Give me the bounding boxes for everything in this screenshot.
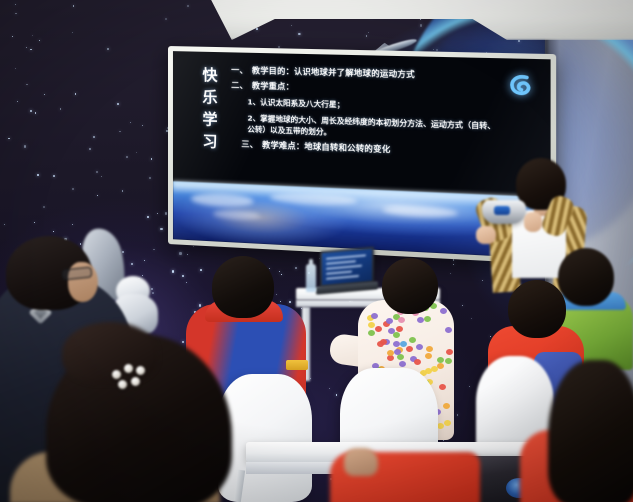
jacket-print-dot <box>439 384 446 390</box>
slide-line-3-num: 三、 <box>241 140 258 149</box>
classroom-photo-scene: 快 乐 学 习 一、 教学目的：认识地球并了解地球的运动方式 二、 教学重点： … <box>0 0 633 502</box>
jacket-print-dot <box>394 349 401 355</box>
jacket-print-dot <box>445 358 452 364</box>
jacket-print-dot <box>437 357 444 363</box>
jacket-print-dot <box>440 308 447 314</box>
pearl-hairpin-5 <box>131 377 140 386</box>
jacket-print-dot <box>400 341 407 347</box>
boy-back-right-head <box>558 248 614 306</box>
jacket-print-dot <box>375 326 382 332</box>
jacket-print-dot <box>398 317 405 323</box>
slide-line-1: 一、 教学目的：认识地球并了解地球的运动方式 <box>231 67 499 82</box>
girl-red-head <box>508 280 566 338</box>
jacket-print-dot <box>399 361 406 367</box>
teacher-hand-left <box>476 226 496 244</box>
vtitle-char-1: 乐 <box>202 90 217 106</box>
slide-sub-item-2: 2、掌握地球的大小、周长及经纬度的本初划分方法、运动方式（自转、公转）以及五带的… <box>247 112 499 143</box>
boy-center-head <box>212 256 274 318</box>
slide-line-1-text: 教学目的：认识地球并了解地球的运动方式 <box>252 67 415 80</box>
slide-line-2-text: 教学重点： <box>252 83 294 93</box>
jacket-print-dot <box>417 317 424 323</box>
slide-line-3-text: 教学难点：地球自转和公转的变化 <box>262 141 390 154</box>
jacket-print-dot <box>393 341 400 347</box>
jacket-print-dot <box>368 330 375 336</box>
jacket-print-dot <box>414 359 421 365</box>
pearl-hairpin-2 <box>124 364 133 373</box>
laptop-screen <box>322 249 372 285</box>
star-projector-device[interactable] <box>482 200 526 224</box>
slide-sub-item-1: 1、认识太阳系及八大行星； <box>247 98 499 113</box>
slide-line-3: 三、 教学难点：地球自转和公转的变化 <box>241 140 499 158</box>
jacket-print-dot <box>437 423 444 429</box>
vtitle-char-0: 快 <box>202 68 217 83</box>
teacher-hand-right <box>524 212 542 232</box>
jacket-print-dot <box>371 313 378 319</box>
white-shell-chair-left[interactable] <box>218 374 312 502</box>
pearl-hairpin-3 <box>136 366 145 375</box>
jacket-print-dot <box>386 318 393 324</box>
jacket-print-dot <box>406 346 413 352</box>
jacket-print-dot <box>393 332 400 338</box>
girl-foreground-right-hair <box>548 360 633 502</box>
pearl-hairpin-1 <box>112 370 121 379</box>
jacket-print-dot <box>446 349 453 355</box>
boy-center-sleeve-stripe <box>286 360 308 370</box>
slide-line-2-num: 二、 <box>231 82 248 91</box>
woman-foreground-bun <box>62 322 158 384</box>
jacket-print-dot <box>416 344 423 350</box>
water-bottle <box>306 264 316 292</box>
slide-vertical-title: 快 乐 学 习 <box>195 68 225 150</box>
jacket-print-dot <box>437 363 444 369</box>
vtitle-char-3: 习 <box>202 134 217 150</box>
slide-line-1-num: 一、 <box>231 67 248 76</box>
slide-body-text: 一、 教学目的：认识地球并了解地球的运动方式 二、 教学重点： 1、认识太阳系及… <box>231 67 499 166</box>
spiral-swirl-logo-icon <box>506 71 535 99</box>
jacket-print-dot <box>368 322 375 328</box>
jacket-print-dot <box>445 327 452 333</box>
jacket-print-dot <box>425 353 432 359</box>
vtitle-char-2: 学 <box>202 112 217 128</box>
jacket-print-dot <box>426 346 433 352</box>
girl-patterned-head <box>382 258 438 314</box>
slide-line-2: 二、 教学重点： <box>231 82 499 98</box>
jacket-print-dot <box>444 420 451 426</box>
pearl-hairpin-4 <box>118 380 127 389</box>
jacket-print-dot <box>409 337 416 343</box>
foreground-child-hand <box>344 448 378 476</box>
jacket-print-dot <box>424 316 431 322</box>
jacket-print-dot <box>443 403 450 409</box>
